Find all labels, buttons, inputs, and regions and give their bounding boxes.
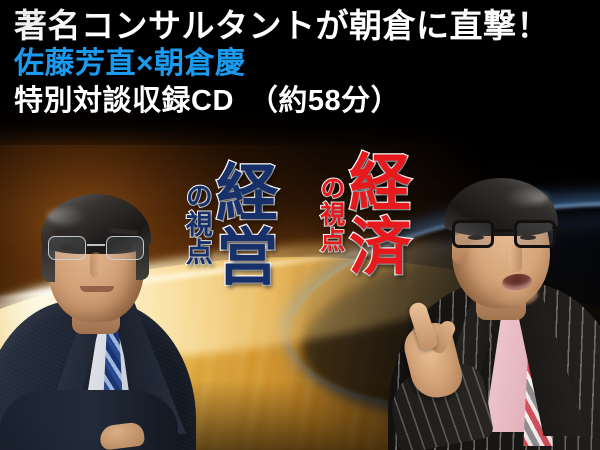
left-eyeglasses-icon bbox=[46, 236, 146, 262]
label-management-main: 経営 bbox=[210, 160, 271, 288]
headline-line-3: 特別対談収録CD （約58分） bbox=[14, 85, 550, 117]
headline-line-1: 著名コンサルタントが朝倉に直撃！ bbox=[14, 8, 550, 45]
right-glasses-bridge bbox=[495, 229, 513, 232]
label-management-viewpoint: 経営 の視点 bbox=[183, 160, 271, 288]
headline-line-2: 佐藤芳直×朝倉慶 bbox=[14, 47, 550, 81]
portrait-right-person bbox=[398, 164, 600, 450]
right-lens-a bbox=[452, 220, 494, 248]
left-lens-a bbox=[48, 236, 86, 260]
right-lens-b bbox=[514, 220, 556, 248]
label-economy-viewpoint: 経済 の視点 bbox=[318, 150, 404, 278]
left-crossed-arms bbox=[0, 390, 178, 450]
left-lens-b bbox=[106, 236, 144, 260]
headline-block: 著名コンサルタントが朝倉に直撃！ 佐藤芳直×朝倉慶 特別対談収録CD （約58分… bbox=[14, 8, 550, 117]
promo-banner: 経営 の視点 経済 の視点 著名コンサルタントが朝倉に直撃！ 佐藤芳直×朝倉慶 … bbox=[0, 0, 600, 450]
portrait-left-person bbox=[0, 178, 182, 450]
left-mouth bbox=[80, 286, 114, 292]
right-eyeglasses-icon bbox=[452, 220, 556, 250]
label-economy-main: 経済 bbox=[343, 150, 404, 278]
left-glasses-bridge bbox=[87, 244, 105, 246]
